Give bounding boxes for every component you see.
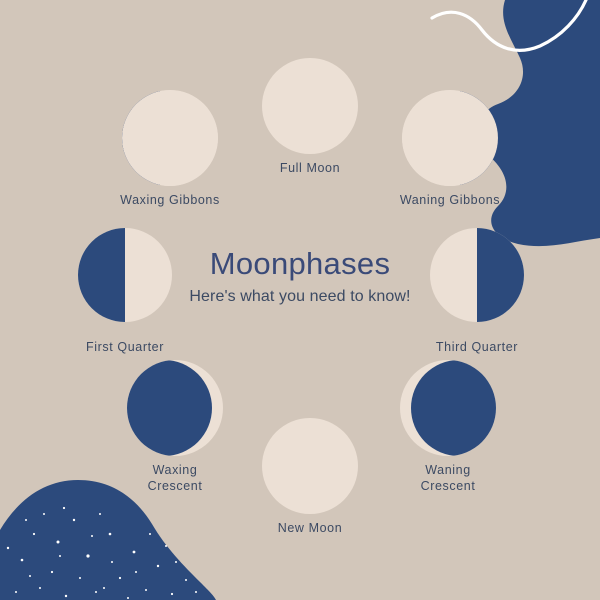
phase-waning-gibbons: Waning Gibbons: [380, 90, 520, 209]
phase-label: New Moon: [240, 521, 380, 537]
phase-label: Waning Gibbons: [380, 193, 520, 209]
page-title: Moonphases: [150, 248, 450, 279]
moon-shadow-disc: [127, 360, 212, 456]
phase-waxing-gibbons: Waxing Gibbons: [100, 90, 240, 209]
moon-waning-gibbons: [402, 90, 498, 186]
phase-label: Third Quarter: [392, 340, 562, 356]
page-subtitle: Here's what you need to know!: [150, 288, 450, 306]
phase-label: First Quarter: [40, 340, 210, 356]
center-title-block: Moonphases Here's what you need to know!: [150, 248, 450, 306]
phase-label: Waxing Gibbons: [100, 193, 240, 209]
moon-new-moon: [262, 418, 358, 514]
moonphases-poster: Waxing Gibbons Full Moon Waning Gibbons …: [0, 0, 600, 600]
phase-label: Waxing Crescent: [105, 463, 245, 494]
phase-waxing-crescent: Waxing Crescent: [105, 360, 245, 494]
moon-shadow-half: [477, 228, 524, 322]
moon-lit-disc: [122, 90, 218, 186]
poster-content: Waxing Gibbons Full Moon Waning Gibbons …: [0, 0, 600, 600]
moon-waning-crescent: [400, 360, 496, 456]
phase-label: Waning Crescent: [378, 463, 518, 494]
phase-full-moon: Full Moon: [240, 58, 380, 177]
moon-lit-disc: [402, 90, 498, 186]
phase-waning-crescent: Waning Crescent: [378, 360, 518, 494]
phase-label: Full Moon: [240, 161, 380, 177]
moon-shadow-half: [78, 228, 125, 322]
moon-waxing-gibbons: [122, 90, 218, 186]
moon-shadow-disc: [411, 360, 496, 456]
moon-full-moon: [262, 58, 358, 154]
phase-new-moon: New Moon: [240, 418, 380, 537]
moon-waxing-crescent: [127, 360, 223, 456]
